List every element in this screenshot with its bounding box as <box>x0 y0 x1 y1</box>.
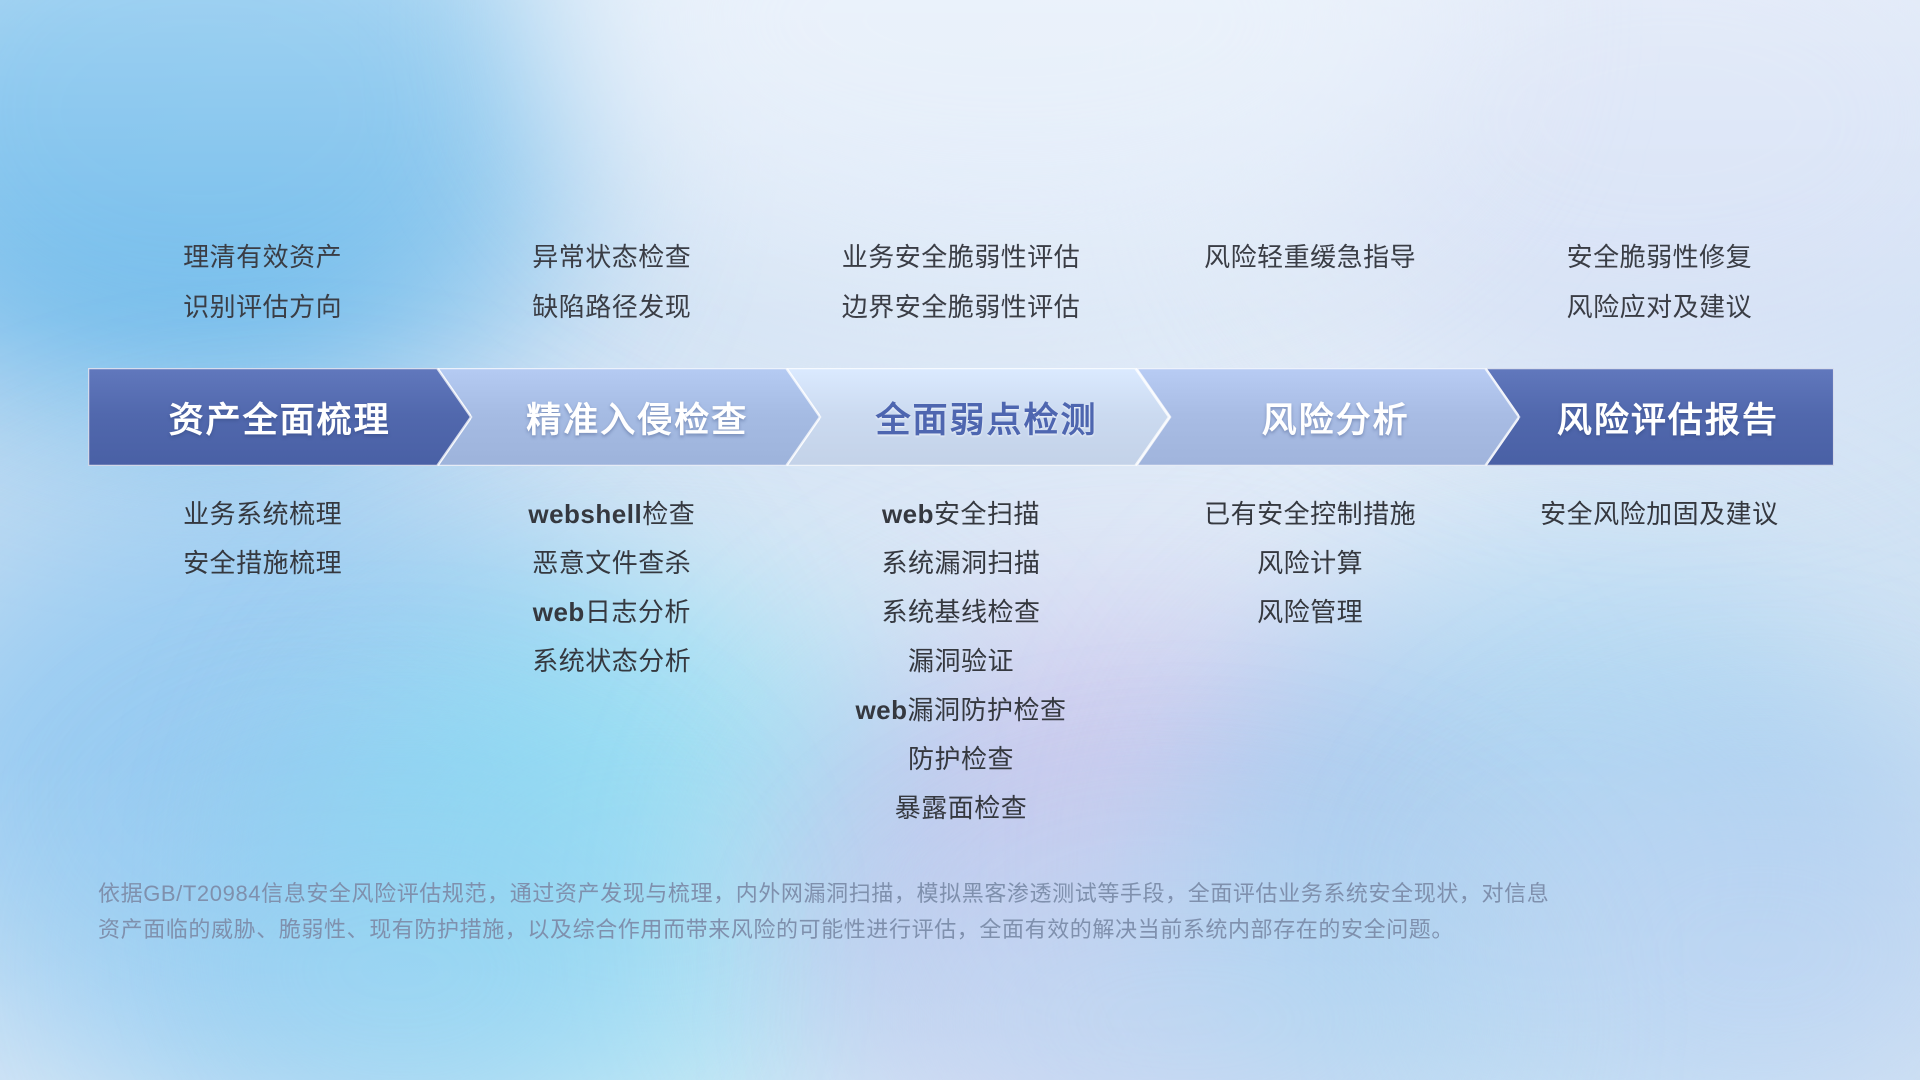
stage-chevron-asset-inventory[interactable]: 资产全面梳理 <box>88 368 471 466</box>
top-note-item: 安全脆弱性修复 <box>1485 232 1834 282</box>
top-note-item: 异常状态检查 <box>437 232 786 282</box>
item: web安全扫描 <box>786 490 1135 539</box>
stage-title-intrusion-check: 精准入侵检查 <box>526 392 748 443</box>
stage-chevron-risk-report[interactable]: 风险评估报告 <box>1485 368 1834 466</box>
item: 安全风险加固及建议 <box>1485 490 1834 539</box>
top-notes-weakness-detection: 业务安全脆弱性评估边界安全脆弱性评估 <box>786 232 1135 332</box>
footer-line-2: 资产面临的威胁、脆弱性、现有防护措施，以及综合作用而带来风险的可能性进行评估，全… <box>98 912 1658 948</box>
stage-title-weakness-detection: 全面弱点检测 <box>875 392 1097 443</box>
stage-title-risk-report: 风险评估报告 <box>1557 392 1779 443</box>
stage-chevron-band: 资产全面梳理精准入侵检查全面弱点检测风险分析风险评估报告 <box>88 368 1834 466</box>
item: web漏洞防护检查 <box>786 686 1135 735</box>
stage-chevron-intrusion-check[interactable]: 精准入侵检查 <box>437 368 820 466</box>
top-notes-risk-analysis: 风险轻重缓急指导 <box>1136 232 1485 282</box>
footer-line-1: 依据GB/T20984信息安全风险评估规范，通过资产发现与梳理，内外网漏洞扫描，… <box>98 876 1658 912</box>
stage-title-risk-analysis: 风险分析 <box>1262 392 1410 443</box>
item: 防护检查 <box>786 735 1135 784</box>
stage-title-asset-inventory: 资产全面梳理 <box>169 392 391 443</box>
top-note-item: 识别评估方向 <box>88 282 437 332</box>
item: 风险管理 <box>1136 588 1485 637</box>
process-diagram: 理清有效资产识别评估方向异常状态检查缺陷路径发现业务安全脆弱性评估边界安全脆弱性… <box>0 0 1920 1080</box>
top-notes-intrusion-check: 异常状态检查缺陷路径发现 <box>437 232 786 332</box>
top-note-item: 缺陷路径发现 <box>437 282 786 332</box>
item: web日志分析 <box>437 588 786 637</box>
top-note-item: 风险应对及建议 <box>1485 282 1834 332</box>
top-notes-risk-report: 安全脆弱性修复风险应对及建议 <box>1485 232 1834 332</box>
items-asset-inventory: 业务系统梳理安全措施梳理 <box>88 490 437 588</box>
top-note-item: 理清有效资产 <box>88 232 437 282</box>
footer-description: 依据GB/T20984信息安全风险评估规范，通过资产发现与梳理，内外网漏洞扫描，… <box>98 876 1658 948</box>
item: 安全措施梳理 <box>88 539 437 588</box>
top-note-item: 边界安全脆弱性评估 <box>786 282 1135 332</box>
item: 暴露面检查 <box>786 784 1135 833</box>
item: webshell检查 <box>437 490 786 539</box>
stage-chevron-weakness-detection[interactable]: 全面弱点检测 <box>786 368 1169 466</box>
stage-chevron-risk-analysis[interactable]: 风险分析 <box>1136 368 1519 466</box>
items-risk-report: 安全风险加固及建议 <box>1485 490 1834 539</box>
item: 系统状态分析 <box>437 637 786 686</box>
items-risk-analysis: 已有安全控制措施风险计算风险管理 <box>1136 490 1485 637</box>
item: 漏洞验证 <box>786 637 1135 686</box>
item: 系统基线检查 <box>786 588 1135 637</box>
items-weakness-detection: web安全扫描系统漏洞扫描系统基线检查漏洞验证web漏洞防护检查防护检查暴露面检… <box>786 490 1135 833</box>
top-note-item: 业务安全脆弱性评估 <box>786 232 1135 282</box>
item: 已有安全控制措施 <box>1136 490 1485 539</box>
items-intrusion-check: webshell检查恶意文件查杀web日志分析系统状态分析 <box>437 490 786 686</box>
item: 风险计算 <box>1136 539 1485 588</box>
top-notes-asset-inventory: 理清有效资产识别评估方向 <box>88 232 437 332</box>
item: 业务系统梳理 <box>88 490 437 539</box>
item: 系统漏洞扫描 <box>786 539 1135 588</box>
top-note-item: 风险轻重缓急指导 <box>1136 232 1485 282</box>
item: 恶意文件查杀 <box>437 539 786 588</box>
